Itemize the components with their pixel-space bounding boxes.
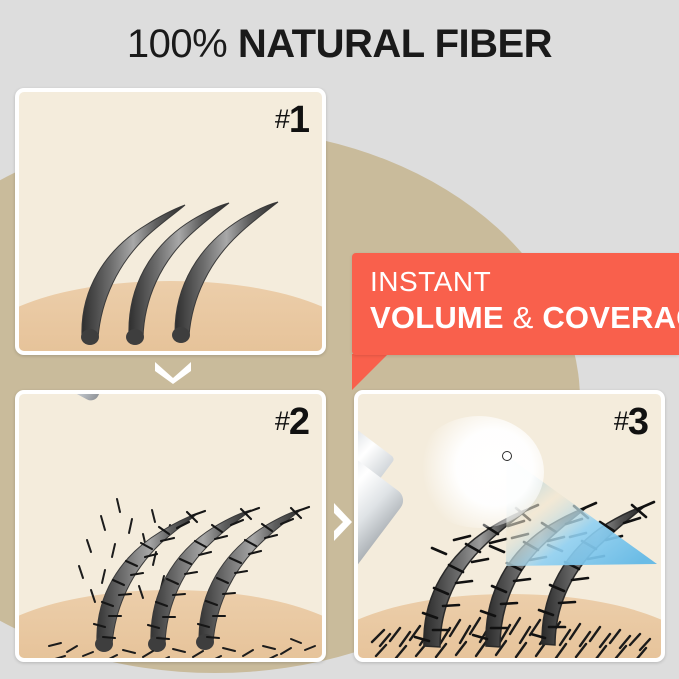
step-badge-2: #2 (275, 400, 310, 443)
step-number-3: 3 (628, 401, 649, 443)
chevron-down-icon (152, 358, 194, 384)
step-number-2: 2 (289, 401, 310, 443)
title-prefix: 100% (127, 22, 227, 66)
banner-tail (352, 354, 388, 390)
promo-banner-text: INSTANT VOLUME & COVERAGE (370, 266, 679, 336)
step-number-1: 1 (289, 99, 310, 141)
step-badge-3: #3 (614, 400, 649, 443)
step-hash-3: # (614, 406, 628, 436)
step-hash-1: # (275, 104, 289, 134)
promo-volume-label: VOLUME (370, 300, 513, 335)
step-panel-3: SUPER MILLION HAIR (354, 390, 665, 662)
step-hash-2: # (275, 406, 289, 436)
spray-nozzle-icon (502, 451, 512, 461)
page-title: 100% NATURAL FIBER (0, 20, 679, 68)
infographic-canvas: 100% NATURAL FIBER (0, 0, 679, 679)
promo-banner: INSTANT VOLUME & COVERAGE (352, 253, 679, 355)
chevron-right-icon (330, 500, 356, 544)
spray-mist-glow (414, 416, 544, 528)
step-panel-1: #1 (15, 88, 326, 355)
title-emphasis: NATURAL FIBER (238, 22, 552, 66)
promo-coverage-label: COVERAGE (534, 300, 679, 335)
promo-banner-line-2: VOLUME & COVERAGE (370, 300, 679, 336)
step-panel-2: SUPER MILLION HAIR (15, 390, 326, 662)
promo-ampersand: & (513, 300, 534, 335)
step-badge-1: #1 (275, 98, 310, 141)
promo-banner-line-1: INSTANT (370, 266, 679, 298)
